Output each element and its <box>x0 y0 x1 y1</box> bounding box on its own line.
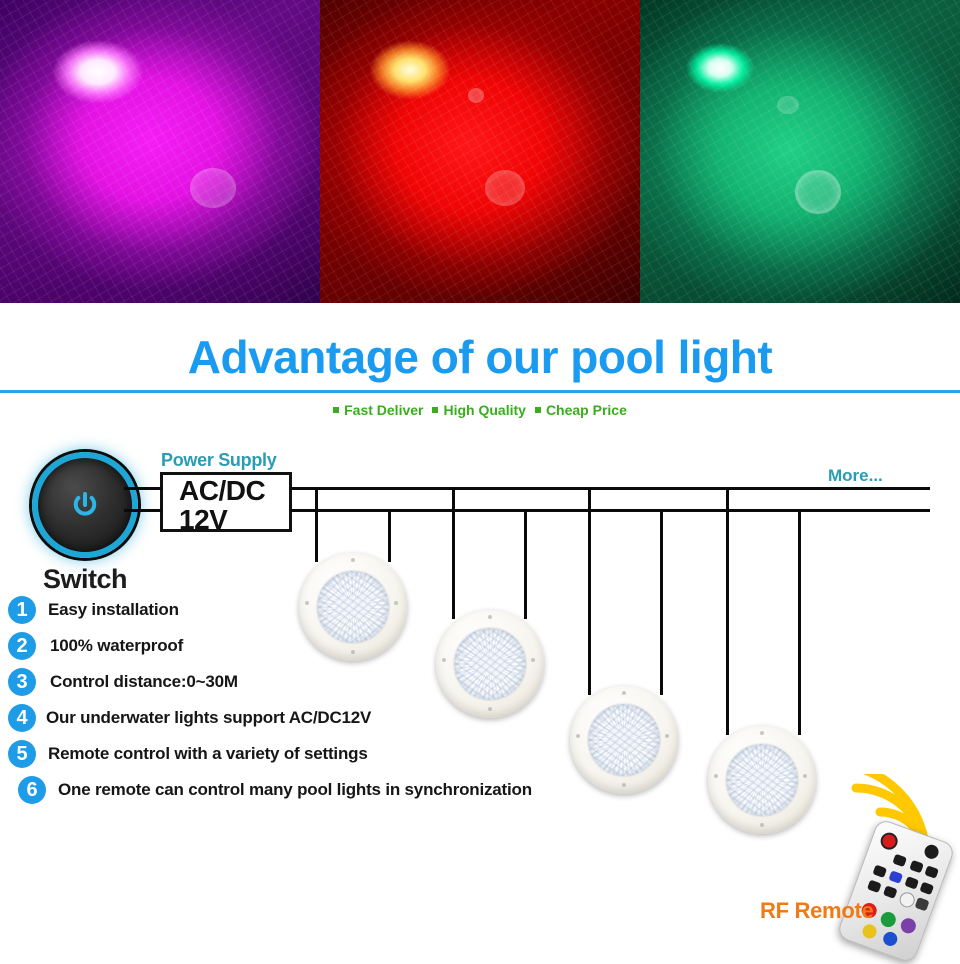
list-item-label: Our underwater lights support AC/DC12V <box>46 708 371 728</box>
power-supply-box: AC/DC 12V <box>160 472 292 532</box>
list-number-badge: 4 <box>8 704 36 732</box>
pool-drain <box>190 168 236 208</box>
remote-green-key[interactable] <box>879 910 898 929</box>
product-photo-strip <box>0 0 960 303</box>
list-number-badge: 3 <box>8 668 36 696</box>
remote-key[interactable] <box>867 880 882 894</box>
remote-key[interactable] <box>892 854 907 868</box>
selling-point-1: Fast Deliver <box>344 402 423 418</box>
drop-wire-1a <box>315 487 318 562</box>
selling-point-2: High Quality <box>443 402 525 418</box>
wiring-diagram: Switch Power Supply AC/DC 12V More... <box>0 430 960 928</box>
drop-wire-4b <box>798 509 801 735</box>
title-divider <box>0 390 960 393</box>
pool-fitting <box>777 96 799 114</box>
wire-switch-ps-top <box>124 487 162 490</box>
bus-line-bottom <box>290 509 930 512</box>
list-item: 3 Control distance:0~30M <box>8 668 708 704</box>
pool-tile-texture <box>0 0 320 303</box>
rf-remote-label: RF Remote <box>760 898 873 924</box>
remote-key[interactable] <box>904 876 919 890</box>
pool-light-4 <box>708 726 816 834</box>
remote-blue-key[interactable] <box>881 930 899 948</box>
power-supply-title: Power Supply <box>161 450 276 471</box>
remote-key[interactable] <box>909 860 924 874</box>
remote-key[interactable] <box>883 885 898 899</box>
selling-point-3: Cheap Price <box>546 402 627 418</box>
list-item-label: Easy installation <box>48 600 179 620</box>
bus-line-top <box>290 487 930 490</box>
list-item: 2 100% waterproof <box>8 632 708 668</box>
remote-key[interactable] <box>872 865 887 879</box>
remote-key[interactable] <box>919 882 934 896</box>
remote-mode-key[interactable] <box>923 843 941 861</box>
remote-yellow-key[interactable] <box>861 922 879 940</box>
pool-tile-texture <box>640 0 960 303</box>
list-number-badge: 5 <box>8 740 36 768</box>
power-switch-button[interactable] <box>32 452 138 558</box>
list-item-label: Control distance:0~30M <box>50 672 238 692</box>
photo-pool-light-purple <box>0 0 320 303</box>
remote-purple-key[interactable] <box>899 916 918 935</box>
list-item: 5 Remote control with a variety of setti… <box>8 740 708 776</box>
list-item-label: Remote control with a variety of setting… <box>48 744 368 764</box>
pool-drain <box>485 170 525 206</box>
bullet-square-icon <box>333 407 339 413</box>
list-number-badge: 1 <box>8 596 36 624</box>
screw-ring <box>708 726 816 834</box>
remote-key[interactable] <box>924 865 939 879</box>
selling-points: Fast DeliverHigh QualityCheap Price <box>0 402 960 418</box>
list-number-badge: 2 <box>8 632 36 660</box>
list-item-label: One remote can control many pool lights … <box>58 780 532 800</box>
list-item: 4 Our underwater lights support AC/DC12V <box>8 704 708 740</box>
pool-tile-texture <box>320 0 640 303</box>
pool-fitting <box>468 88 484 103</box>
list-item-label: 100% waterproof <box>50 636 183 656</box>
list-item: 1 Easy installation <box>8 596 708 632</box>
drop-wire-1b <box>388 509 391 562</box>
remote-power-key[interactable] <box>878 830 900 852</box>
wire-switch-ps-bottom <box>124 509 162 512</box>
more-label: More... <box>828 466 883 486</box>
photo-pool-light-green <box>640 0 960 303</box>
bullet-square-icon <box>432 407 438 413</box>
bullet-square-icon <box>535 407 541 413</box>
list-number-badge: 6 <box>18 776 46 804</box>
power-supply-line1: AC/DC <box>179 476 289 505</box>
list-item: 6 One remote can control many pool light… <box>8 776 708 812</box>
switch-label: Switch <box>32 564 138 595</box>
feature-list: 1 Easy installation 2 100% waterproof 3 … <box>8 596 708 812</box>
pool-drain <box>795 170 841 214</box>
power-icon <box>70 490 100 520</box>
remote-key[interactable] <box>915 897 930 911</box>
remote-key[interactable] <box>888 870 903 884</box>
remote-white-key[interactable] <box>898 890 917 909</box>
power-supply-line2: 12V <box>179 505 289 534</box>
page-title: Advantage of our pool light <box>0 330 960 384</box>
switch-group: Switch <box>32 452 138 595</box>
drop-wire-4a <box>726 487 729 735</box>
photo-pool-light-red <box>320 0 640 303</box>
